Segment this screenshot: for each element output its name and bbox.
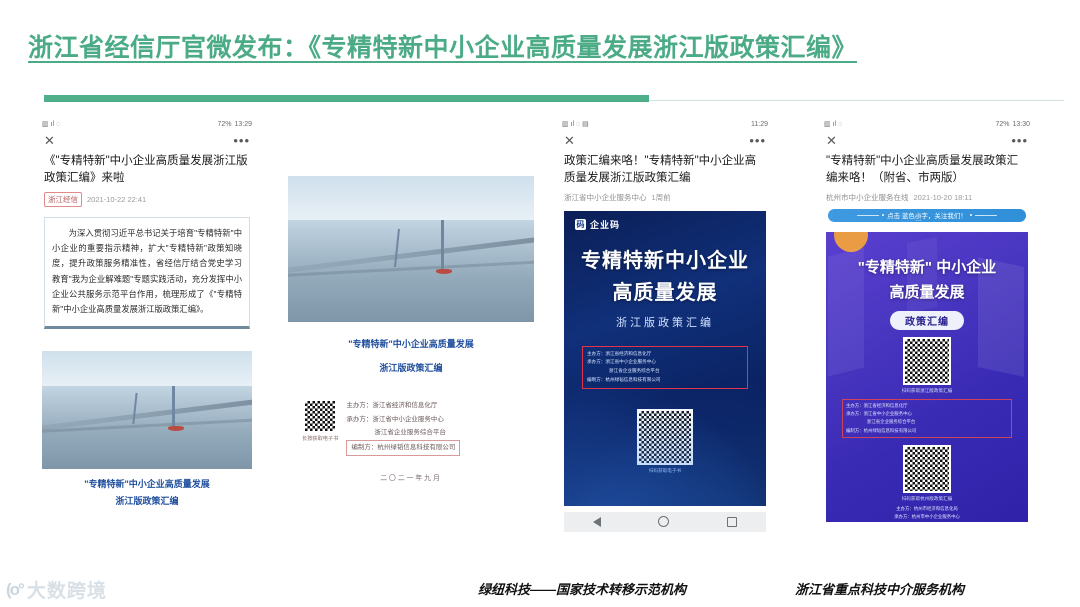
bridge-pylon-near [172, 386, 175, 426]
article-body-box: 为深入贯彻习近平总书记关于培育"专精特新"中小企业的重要指示精神，扩大"专精特新… [44, 217, 250, 329]
close-icon[interactable]: ✕ [826, 134, 837, 147]
divider-thin-line [649, 100, 1064, 101]
caption-2: "专精特新"中小企业高质量发展 浙江版政策汇编 [288, 336, 534, 377]
bridge-photo-1 [42, 351, 252, 469]
source-tag[interactable]: 浙江经信 [44, 192, 82, 207]
bottom-caption-left: 绿纽科技——国家技术转移示范机构 [478, 579, 686, 598]
sky [42, 351, 252, 386]
credit-line: 主办方：杭州市经济和信息化局 [845, 505, 1009, 513]
clock-label: 13:29 [234, 121, 252, 128]
article-time-ago: 1周前 [652, 192, 671, 203]
slide-canvas: 浙江省经信厅官微发布：《专精特新中小企业高质量发展浙江版政策汇编》 ▥ ıl ◌… [0, 0, 1080, 607]
caption-2-line1: "专精特新"中小企业高质量发展 [288, 336, 534, 353]
watermark: (o° 大数跨境 [6, 576, 107, 603]
title-divider [44, 95, 1064, 102]
article-meta-4: 杭州市中小企业服务在线 2021-10-20 18:11 [818, 190, 1036, 203]
statusbar-1: ▥ ıl ◌ 72% 13:29 [36, 118, 258, 130]
statusbar-left-icons: ▥ ıl ◌ ▤ [562, 120, 589, 128]
article-source[interactable]: 杭州市中小企业服务在线 [826, 192, 909, 203]
sky [288, 176, 534, 220]
article-meta-3: 浙江省中小企业服务中心 1周前 [556, 190, 774, 203]
logo-text: 企业码 [590, 218, 620, 231]
boat [168, 426, 184, 431]
qr-block-2[interactable]: 长按获取电子书 [302, 399, 338, 442]
pill-dot-left [882, 214, 884, 216]
home-icon[interactable] [658, 516, 669, 527]
credits-block-2: 长按获取电子书 主办方：浙江省经济和信息化厅 承办方：浙江省中小企业服务中心 浙… [288, 399, 534, 456]
poster-title-line1: "专精特新" 中小企业 [826, 232, 1028, 277]
poster-title-line1: 专精特新中小企业 [564, 244, 766, 273]
credit-line: 主办方：浙江省经济和信息化厅 [346, 399, 460, 413]
android-navbar [564, 512, 766, 532]
pointing-hand-icon: ☝ [915, 211, 922, 224]
article-body-text: 为深入贯彻习近平总书记关于培育"专精特新"中小企业的重要指示精神，扩大"专精特新… [52, 226, 242, 318]
qr-code-icon[interactable] [303, 399, 337, 433]
credit-line: 编制方：杭州绿韬信息科技有限公司 [846, 427, 1008, 435]
panel-2: "专精特新"中小企业高质量发展 浙江版政策汇编 长按获取电子书 主办方：浙江省经… [288, 176, 534, 482]
navrow-4: ✕ ••• [818, 130, 1036, 149]
qr-caption-2: 长按获取电子书 [302, 435, 338, 442]
poster-title-line2: 高质量发展 [564, 276, 766, 305]
credit-line: 承办方：杭州市中小企业服务中心 [845, 513, 1009, 521]
statusbar-left-icons: ▥ ıl ◌ [824, 120, 842, 128]
back-icon[interactable] [593, 517, 601, 527]
qr1-caption: 扫码获取浙江版政策汇编 [902, 388, 953, 394]
poster-subtitle: 浙江版政策汇编 [564, 314, 766, 330]
article-meta-1: 浙江经信 2021-10-22 22:41 [36, 190, 258, 207]
credit-line: 浙江省企业服务综合平台 [846, 418, 1008, 426]
divider-thick-bar [44, 95, 649, 102]
credit-line: 主办方：浙江省经济和信息化厅 [846, 402, 1008, 410]
poster-pill-badge: 政策汇编 [890, 311, 964, 330]
bridge-photo-2 [288, 176, 534, 322]
caption-1: "专精特新"中小企业高质量发展 浙江版政策汇编 [36, 476, 258, 510]
navrow-1: ✕ ••• [36, 130, 258, 149]
more-icon[interactable]: ••• [1011, 134, 1028, 147]
caption-1-line1: "专精特新"中小企业高质量发展 [36, 476, 258, 493]
clock-label: 11:29 [751, 121, 768, 128]
article-title-1: 《"专精特新"中小企业高质量发展浙江版政策汇编》来啦 [36, 149, 258, 190]
qr-code-icon[interactable] [903, 337, 951, 385]
statusbar-4: ▥ ıl ◌ 72% 13:30 [818, 118, 1036, 130]
bridge-pylon-far [133, 393, 138, 424]
poster-credits-box-2: 主办方：杭州市经济和信息化局 承办方：杭州市中小企业服务中心 [842, 505, 1012, 522]
boat [436, 269, 452, 274]
caption-1-line2: 浙江版政策汇编 [36, 493, 258, 510]
credit-line-boxed: 编制方：杭州绿韬信息科技有限公司 [346, 440, 460, 456]
pill-dot-right [970, 214, 972, 216]
follow-pill-label: 点击 蓝色小字，关注我们！ [887, 210, 967, 220]
credit-line: 承办方：浙江省中小企业服务中心 [846, 410, 1008, 418]
bottom-caption-right: 浙江省重点科技中介服务机构 [795, 579, 964, 598]
article-source[interactable]: 浙江省中小企业服务中心 [564, 192, 647, 203]
panel-1: ▥ ıl ◌ 72% 13:29 ✕ ••• 《"专精特新"中小企业高质量发展浙… [36, 118, 258, 510]
bridge-pylon-near [441, 220, 444, 270]
poster-blue: 码 企业码 专精特新中小企业 高质量发展 浙江版政策汇编 主办方：浙江省经济和信… [564, 211, 766, 506]
battery-icon: 72% [995, 121, 1009, 128]
close-icon[interactable]: ✕ [44, 134, 55, 147]
poster-credits-box-1: 主办方：浙江省经济和信息化厅 承办方：浙江省中小企业服务中心 浙江省企业服务综合… [842, 399, 1012, 438]
poster-title-line2: 高质量发展 [826, 281, 1028, 302]
qr-block-zhejiang[interactable]: 扫码获取浙江版政策汇编 [826, 337, 1028, 394]
credit-line-highlight: 编制方：杭州绿韬信息科技有限公司 [346, 440, 460, 456]
article-date: 2021-10-20 18:11 [914, 193, 973, 202]
statusbar-left-icons: ▥ ıl ◌ [42, 120, 60, 128]
qr2-caption: 扫码获取杭州版政策汇编 [902, 496, 953, 502]
panel-4: ▥ ıl ◌ 72% 13:30 ✕ ••• "专精特新"中小企业高质量发展政策… [818, 118, 1036, 522]
navrow-3: ✕ ••• [556, 130, 774, 149]
caption-2-line2: 浙江版政策汇编 [288, 360, 534, 377]
more-icon[interactable]: ••• [749, 134, 766, 147]
article-title-4: "专精特新"中小企业高质量发展政策汇编来咯！（附省、市两版） [818, 149, 1036, 190]
qr-code-icon[interactable] [903, 445, 951, 493]
bridge-pylon-far [394, 229, 400, 267]
statusbar-right: 11:29 [748, 121, 768, 128]
pill-dash-left [857, 215, 879, 216]
article-date: 2021-10-22 22:41 [87, 195, 146, 204]
close-icon[interactable]: ✕ [564, 134, 575, 147]
follow-us-button[interactable]: 点击 蓝色小字，关注我们！ ☝ [828, 209, 1026, 222]
logo-mark-icon: 码 [575, 219, 586, 230]
article-title-3: 政策汇编来咯！"专精特新"中小企业高质量发展浙江版政策汇编 [556, 149, 774, 190]
recents-icon[interactable] [727, 517, 737, 527]
poster-purple: "专精特新" 中小企业 高质量发展 政策汇编 扫码获取浙江版政策汇编 主办方：浙… [826, 232, 1028, 522]
page-title: 浙江省经信厅官微发布：《专精特新中小企业高质量发展浙江版政策汇编》 [28, 28, 1058, 64]
statusbar-right: 72% 13:29 [217, 121, 252, 128]
panel-3: ▥ ıl ◌ ▤ 11:29 ✕ ••• 政策汇编来咯！"专精特新"中小企业高质… [556, 118, 774, 532]
statusbar-right: 72% 13:30 [995, 121, 1030, 128]
statusbar-3: ▥ ıl ◌ ▤ 11:29 [556, 118, 774, 130]
clock-label: 13:30 [1012, 121, 1030, 128]
credit-lines-2: 主办方：浙江省经济和信息化厅 承办方：浙江省中小企业服务中心 浙江省企业服务综合… [346, 399, 460, 456]
qr-block-hangzhou[interactable]: 扫码获取杭州版政策汇编 [826, 445, 1028, 502]
credit-line: 承办方：浙江省中小企业服务中心 [346, 413, 460, 427]
pill-dash-right [975, 215, 997, 216]
watermark-logo-icon: (o° [6, 580, 23, 600]
wave-decoration [564, 358, 766, 506]
credit-line: 浙江省企业服务综合平台 [346, 426, 460, 440]
more-icon[interactable]: ••• [233, 134, 250, 147]
watermark-text: 大数跨境 [27, 576, 107, 603]
battery-icon: 72% [217, 121, 231, 128]
qiyema-logo: 码 企业码 [564, 211, 766, 231]
date-line-2: 二〇二一年九月 [288, 472, 534, 482]
